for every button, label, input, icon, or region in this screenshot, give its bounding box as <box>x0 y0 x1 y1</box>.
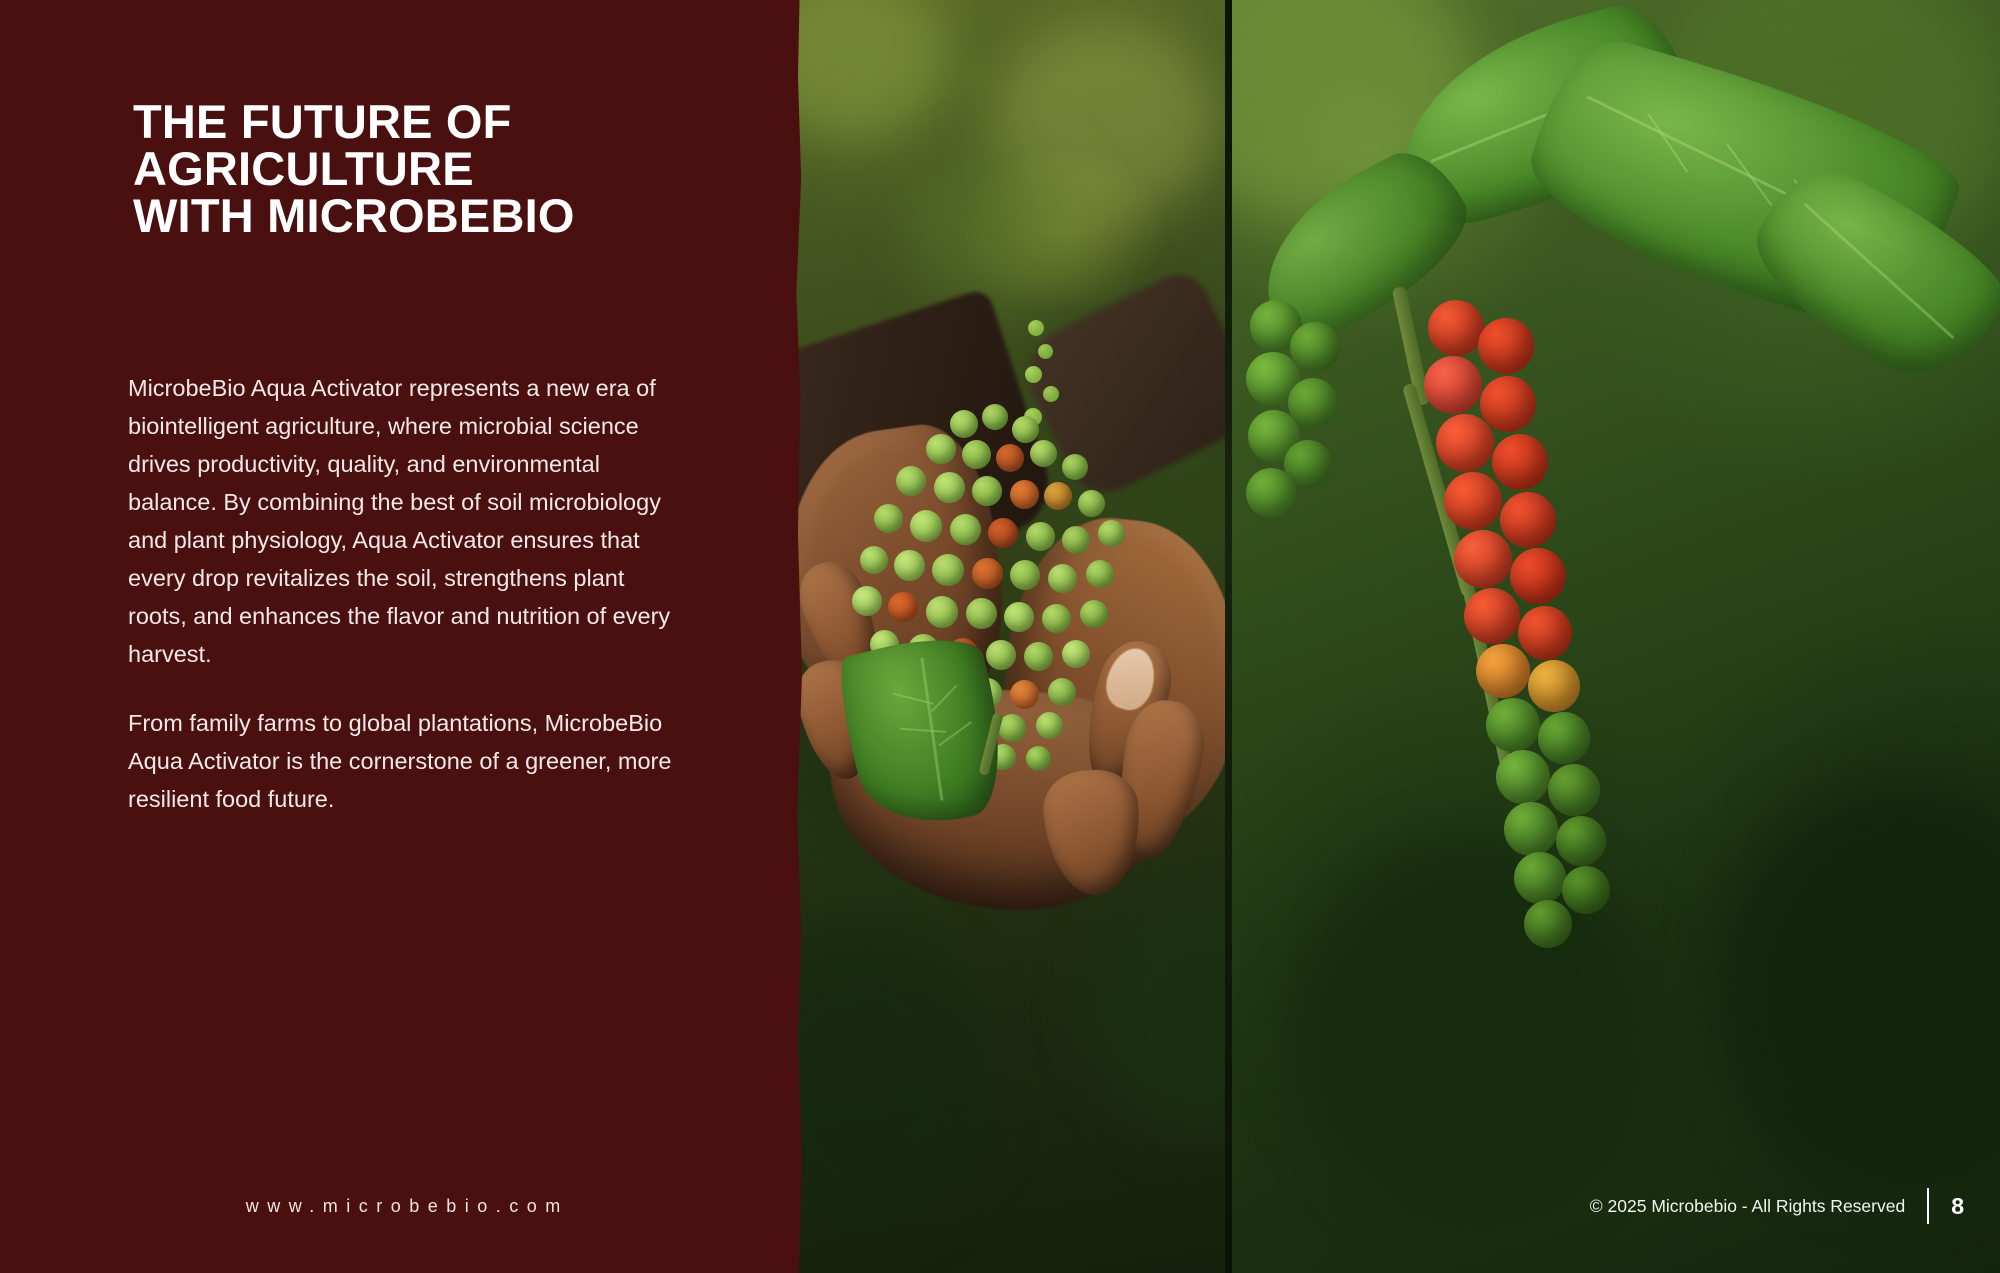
footer-right: © 2025 Microbebio - All Rights Reserved … <box>1590 1188 1964 1224</box>
maroon-text-panel: THE FUTURE OF AGRICULTURE WITH MICROBEBI… <box>0 0 806 1273</box>
page-number: 8 <box>1929 1193 1964 1220</box>
body-paragraph-1: MicrobeBio Aqua Activator represents a n… <box>128 369 688 674</box>
body-copy: MicrobeBio Aqua Activator represents a n… <box>128 369 688 818</box>
body-paragraph-2: From family farms to global plantations,… <box>128 704 688 818</box>
presentation-slide: THE FUTURE OF AGRICULTURE WITH MICROBEBI… <box>0 0 2000 1273</box>
peppercorn-vine-cluster-photo <box>1232 0 2000 1273</box>
title-line-3: WITH MICROBEBIO <box>133 192 753 239</box>
copyright-text: © 2025 Microbebio - All Rights Reserved <box>1590 1196 1927 1217</box>
title-line-2: AGRICULTURE <box>133 145 753 192</box>
page-title: THE FUTURE OF AGRICULTURE WITH MICROBEBI… <box>133 98 753 239</box>
hands-holding-peppercorns-photo <box>790 0 1228 1273</box>
title-line-1: THE FUTURE OF <box>133 98 753 145</box>
website-url[interactable]: www.microbebio.com <box>0 1196 806 1217</box>
